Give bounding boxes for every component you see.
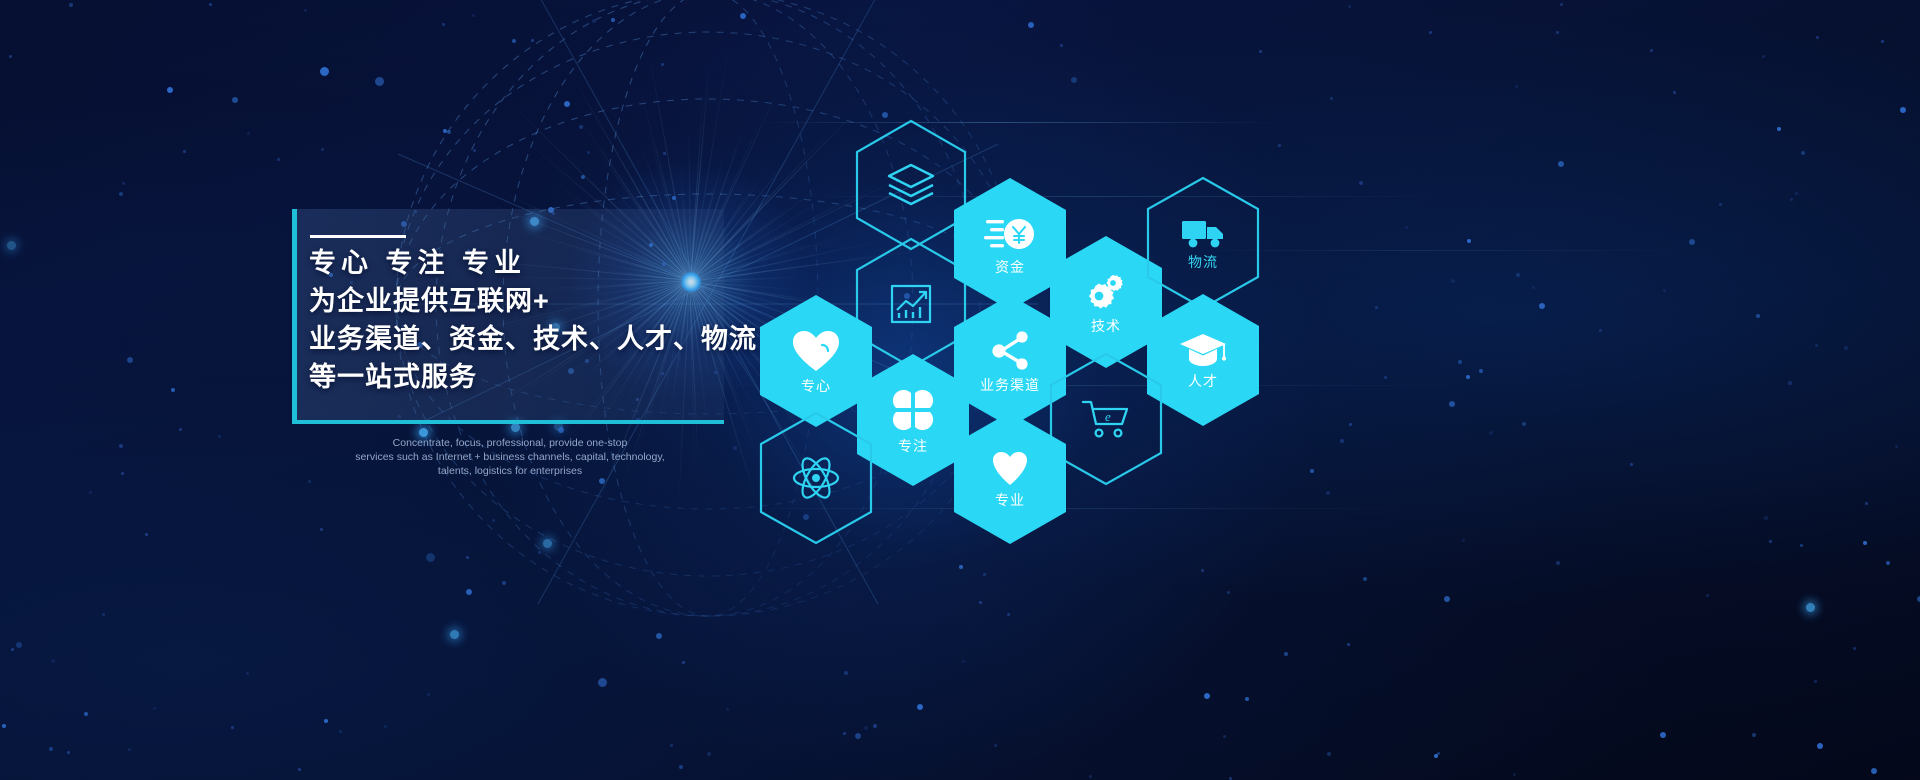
shopping-cart-e-icon: e <box>1081 398 1131 440</box>
atom-icon <box>791 455 841 501</box>
graduation-cap-icon <box>1179 332 1227 368</box>
hex-tech-label: 技术 <box>1091 319 1121 333</box>
hex-logistics-label: 物流 <box>1188 255 1218 269</box>
hex-pro[interactable]: 专业 <box>952 411 1068 545</box>
hex-pro-label: 专业 <box>995 493 1025 507</box>
hero-banner: 专心 专注 专业 为企业提供互联网+ 业务渠道、资金、技术、人才、物流 等一站式… <box>0 0 1920 780</box>
hex-focus-label: 专注 <box>898 439 928 453</box>
gears-icon <box>1083 271 1129 313</box>
heart-icon <box>791 329 841 373</box>
hex-logistics[interactable]: 物流 <box>1145 176 1261 310</box>
hex-atom[interactable] <box>758 411 874 545</box>
yuan-money-icon <box>984 214 1036 254</box>
hex-talent-label: 人才 <box>1188 374 1218 388</box>
diamond-icon <box>990 449 1030 487</box>
share-nodes-icon <box>988 330 1032 372</box>
hex-heart-label: 专心 <box>801 379 831 393</box>
hexagon-cluster: 资金 技术 <box>0 0 1920 780</box>
hex-channel-label: 业务渠道 <box>980 378 1040 392</box>
hex-capital-label: 资金 <box>995 260 1025 274</box>
svg-text:e: e <box>1105 409 1111 424</box>
chart-growth-icon <box>888 280 934 326</box>
hex-layers[interactable] <box>854 119 968 251</box>
layers-icon <box>885 162 937 208</box>
clover-icon <box>890 387 936 433</box>
truck-icon <box>1180 217 1226 249</box>
